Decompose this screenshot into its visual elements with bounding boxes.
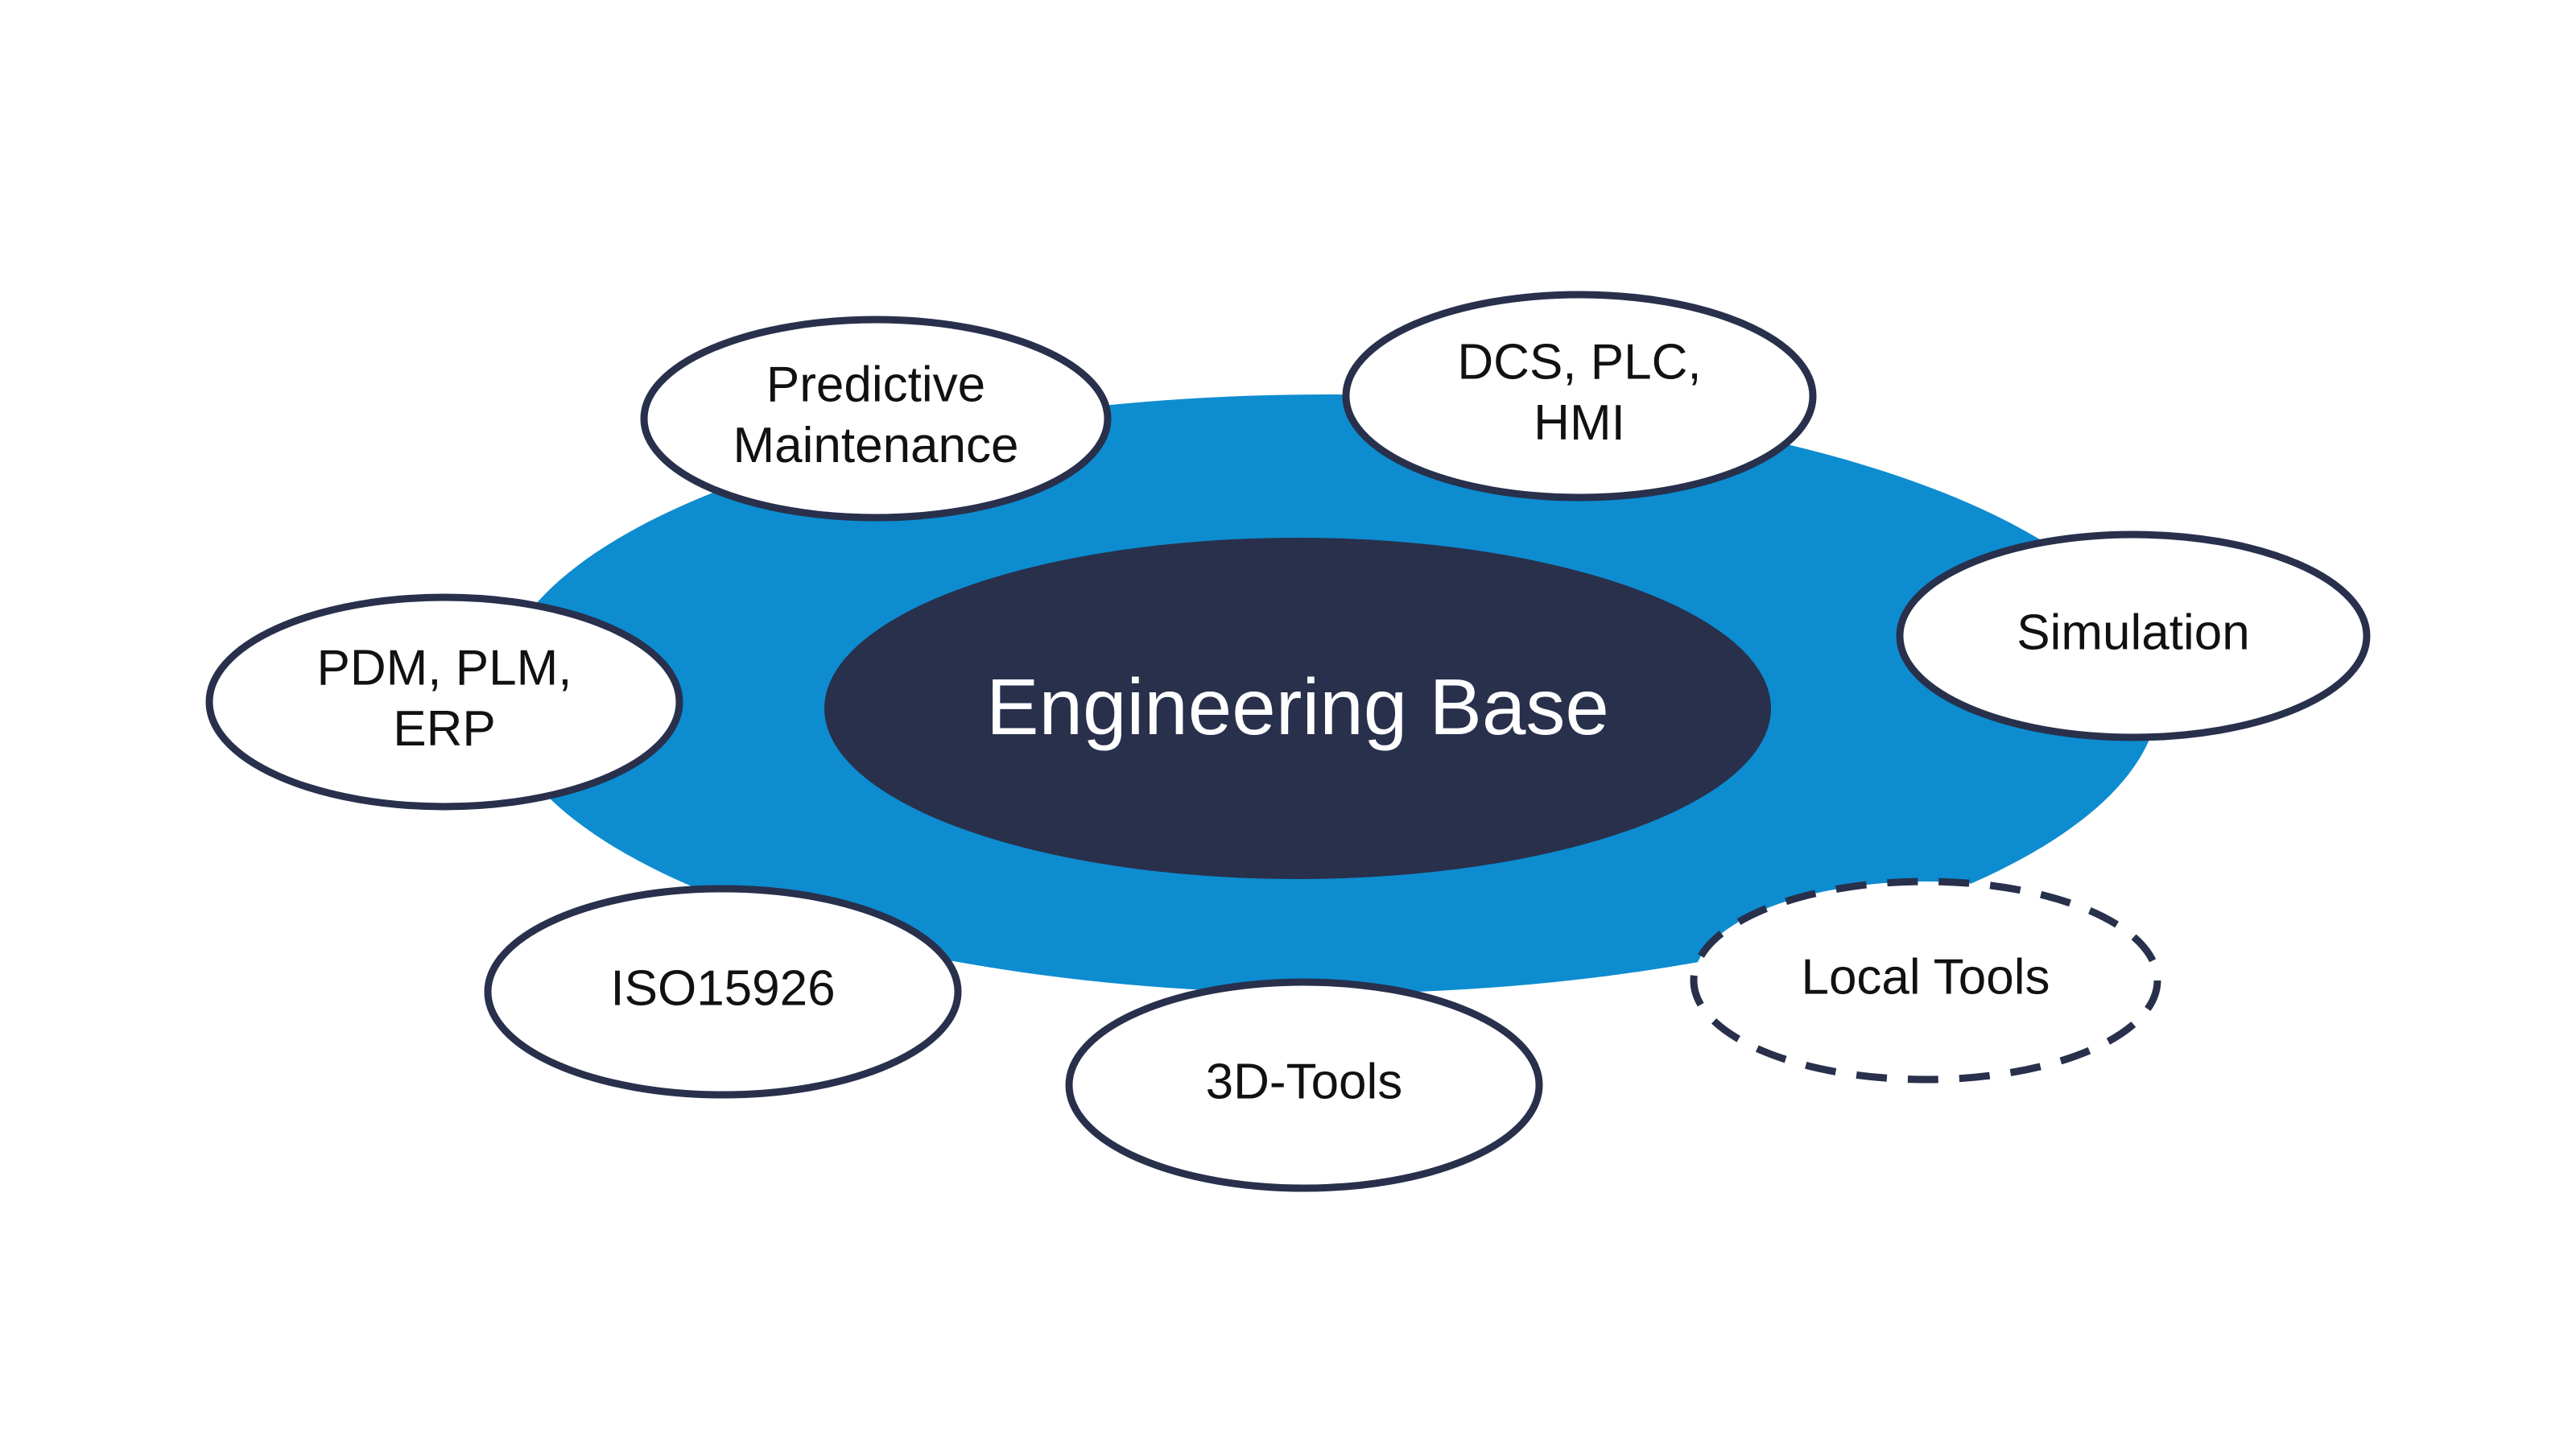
diagram-canvas: Engineering Base PredictiveMaintenanceDC… [0, 0, 2576, 1449]
node-label-dcs-plc-hmi-line-1: DCS, PLC, [1457, 335, 1701, 390]
node-label-predictive-maintenance-line-1: Predictive [766, 357, 985, 413]
node-label-predictive-maintenance-line-2: Maintenance [733, 418, 1018, 473]
node-iso15926[interactable]: ISO15926 [488, 889, 958, 1095]
node-simulation[interactable]: Simulation [1900, 535, 2367, 737]
node-dcs-plc-hmi[interactable]: DCS, PLC,HMI [1346, 295, 1813, 497]
node-label-local-tools: Local Tools [1801, 949, 2050, 1005]
node-label-iso15926: ISO15926 [610, 960, 835, 1016]
core-layer: Engineering Base [824, 538, 1771, 879]
node-3d-tools[interactable]: 3D-Tools [1069, 982, 1539, 1188]
node-label-dcs-plc-hmi-line-2: HMI [1534, 395, 1625, 451]
core-label: Engineering Base [986, 663, 1609, 751]
node-label-simulation: Simulation [2017, 605, 2249, 660]
node-pdm-plm-erp[interactable]: PDM, PLM,ERP [209, 597, 679, 807]
node-predictive-maintenance[interactable]: PredictiveMaintenance [644, 320, 1108, 518]
node-local-tools[interactable]: Local Tools [1694, 881, 2157, 1080]
node-label-3d-tools: 3D-Tools [1206, 1054, 1403, 1109]
node-label-pdm-plm-erp-line-2: ERP [393, 701, 495, 757]
node-label-pdm-plm-erp-line-1: PDM, PLM, [317, 641, 572, 696]
engineering-base-ecosystem-diagram: Engineering Base PredictiveMaintenanceDC… [0, 0, 2576, 1449]
